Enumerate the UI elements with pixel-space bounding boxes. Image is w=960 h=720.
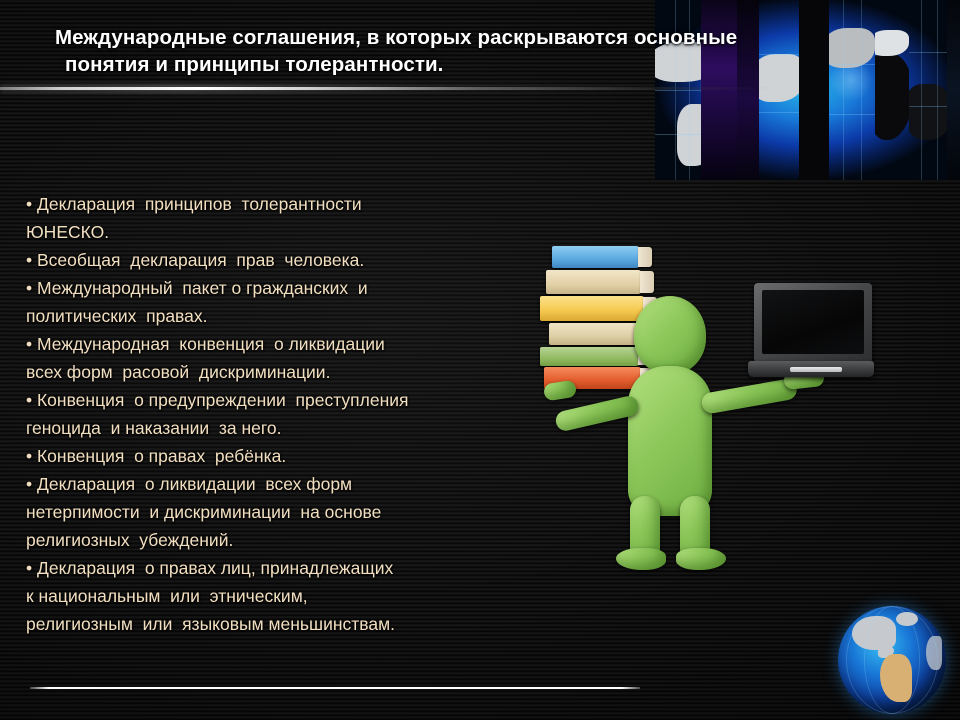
list-item: ЮНЕСКО.	[26, 218, 526, 246]
list-item: • Всеобщая декларация прав человека.	[26, 246, 526, 274]
list-item: • Конвенция о предупреждении преступлени…	[26, 386, 526, 414]
figure-left-foot	[616, 548, 666, 570]
globe-sphere	[838, 606, 946, 714]
figure-right-foot	[676, 548, 726, 570]
list-item: • Декларация о ликвидации всех форм	[26, 470, 526, 498]
list-item: к национальным или этническим,	[26, 582, 526, 610]
laptop-trackpad	[790, 367, 842, 372]
list-item: религиозным или языковым меньшинствам.	[26, 610, 526, 638]
list-item: нетерпимости и дискриминации на основе	[26, 498, 526, 526]
blue-book	[552, 246, 640, 268]
laptop-screen	[762, 290, 864, 354]
list-item: политических правах.	[26, 302, 526, 330]
list-item: • Конвенция о правах ребёнка.	[26, 442, 526, 470]
bottom-rule	[30, 687, 640, 689]
title-line-1: Международные соглашения, в которых раск…	[55, 26, 737, 49]
list-item: религиозных убеждений.	[26, 526, 526, 554]
list-item: всех форм расовой дискриминации.	[26, 358, 526, 386]
list-item: • Международный пакет о гражданских и	[26, 274, 526, 302]
globe-meridian-2	[846, 606, 938, 714]
laptop-illustration	[748, 283, 874, 379]
list-item: • Международная конвенция о ликвидации	[26, 330, 526, 358]
list-item: геноцида и наказании за него.	[26, 414, 526, 442]
list-item: • Декларация принципов толерантности	[26, 190, 526, 218]
figure-torso	[628, 366, 712, 516]
earth-globe	[838, 606, 946, 714]
title-separator	[0, 87, 770, 90]
presentation-slide: Международные соглашения, в которых раск…	[0, 0, 960, 720]
list-item: • Декларация о правах лиц, принадлежащих	[26, 554, 526, 582]
page-title: Международные соглашения, в которых раск…	[55, 24, 785, 78]
figure-head	[634, 296, 706, 374]
title-line-2: понятия и принципы толерантности.	[55, 51, 785, 78]
bullet-list: • Декларация принципов толерантности ЮНЕ…	[26, 190, 526, 638]
